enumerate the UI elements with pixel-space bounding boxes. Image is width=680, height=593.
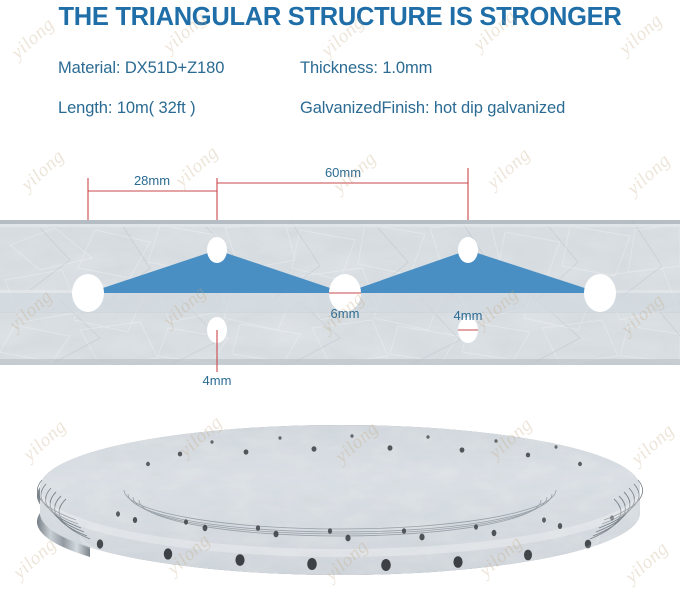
header: THE TRIANGULAR STRUCTURE IS STRONGER Mat…	[0, 0, 680, 150]
metal-strip	[0, 220, 680, 365]
spec-thickness: Thickness: 1.0mm	[300, 59, 432, 78]
spec-material: Material: DX51D+Z180	[58, 59, 224, 78]
hole-large	[584, 274, 616, 312]
spec-length: Length: 10m( 32ft )	[58, 99, 196, 118]
dimension-label-6mm: 6mm	[331, 306, 360, 321]
dimension-label-28mm: 28mm	[134, 173, 170, 188]
spec-galvanized-finish: GalvanizedFinish: hot dip galvanized	[300, 99, 565, 118]
page-title: THE TRIANGULAR STRUCTURE IS STRONGER	[0, 3, 680, 32]
hole-small	[458, 237, 478, 263]
dimension-label-4mm-right: 4mm	[454, 308, 483, 323]
hole-large	[72, 274, 104, 312]
coil-body	[37, 425, 643, 583]
dimension-label-4mm-lower: 4mm	[203, 373, 232, 388]
hole-small	[207, 237, 227, 263]
strip-dimension-diagram: 28mm 60mm	[0, 150, 680, 395]
dimension-label-60mm: 60mm	[325, 165, 361, 180]
coil-product-photo	[0, 392, 680, 593]
